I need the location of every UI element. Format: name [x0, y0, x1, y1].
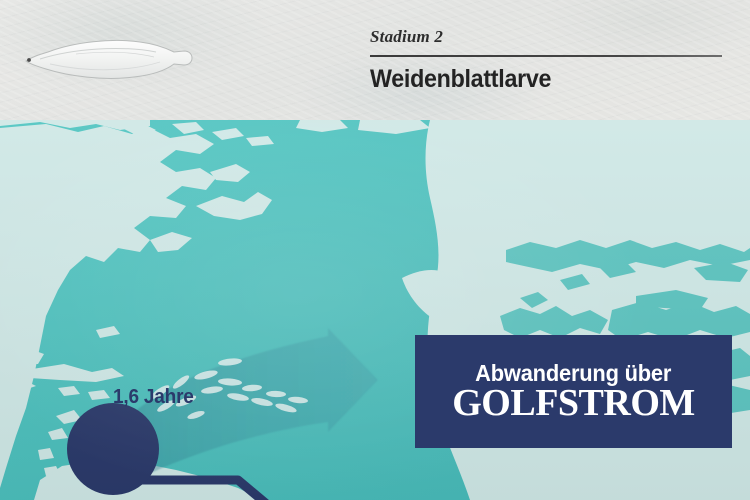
willow-leaf-larva-icon: [16, 30, 196, 86]
header-divider: [370, 55, 722, 57]
callout-subtitle: Abwanderung über: [475, 361, 671, 385]
golfstrom-callout-box[interactable]: Abwanderung über GOLFSTROM: [415, 335, 732, 448]
callout-title: GOLFSTROM: [452, 384, 695, 423]
stage-label: Stadium 2: [370, 28, 722, 45]
header-bar: Stadium 2 Weidenblattlarve: [0, 0, 750, 120]
page-title: Weidenblattlarve: [370, 66, 697, 92]
duration-label: 1,6 Jahre: [113, 386, 194, 409]
header-text-block: Stadium 2 Weidenblattlarve: [370, 28, 722, 92]
sargasso-origin-dot[interactable]: [67, 403, 159, 495]
infographic-root: Stadium 2 Weidenblattlarve: [0, 0, 750, 500]
